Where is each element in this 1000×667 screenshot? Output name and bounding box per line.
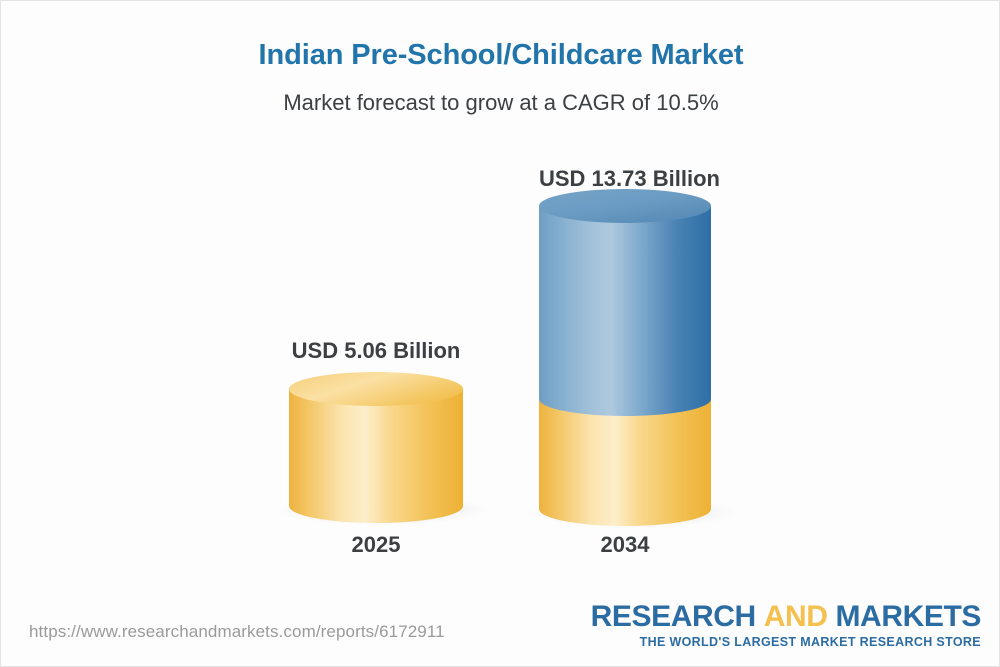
chart-canvas: Indian Pre-School/Childcare Market Marke… <box>0 0 1000 667</box>
logo-word-and: AND <box>764 600 828 633</box>
cylinder-top-2034 <box>539 189 711 223</box>
category-label-2034: 2034 <box>539 532 711 558</box>
report-url[interactable]: https://www.researchandmarkets.com/repor… <box>29 622 445 642</box>
logo-wordmark: RESEARCH AND MARKETS <box>591 601 981 633</box>
research-and-markets-logo[interactable]: RESEARCH AND MARKETS THE WORLD'S LARGEST… <box>591 601 981 649</box>
logo-space-1 <box>756 600 764 633</box>
value-label-2025: USD 5.06 Billion <box>289 338 463 364</box>
cylinder-segment-growth-2034 <box>539 206 711 416</box>
bar-cylinder-2034 <box>521 188 751 538</box>
category-label-2025: 2025 <box>289 532 463 558</box>
logo-word-markets: MARKETS <box>835 600 981 633</box>
logo-word-research: RESEARCH <box>591 600 756 633</box>
cylinder-body-2025 <box>289 389 463 523</box>
bar-cylinder-2025 <box>271 371 501 536</box>
cylinder-segment-base-2034 <box>539 399 711 526</box>
cylinder-top-2025 <box>289 372 463 406</box>
plot-area: USD 5.06 Billion USD 13.73 Billion <box>1 1 1000 601</box>
logo-tagline: THE WORLD'S LARGEST MARKET RESEARCH STOR… <box>591 635 981 649</box>
